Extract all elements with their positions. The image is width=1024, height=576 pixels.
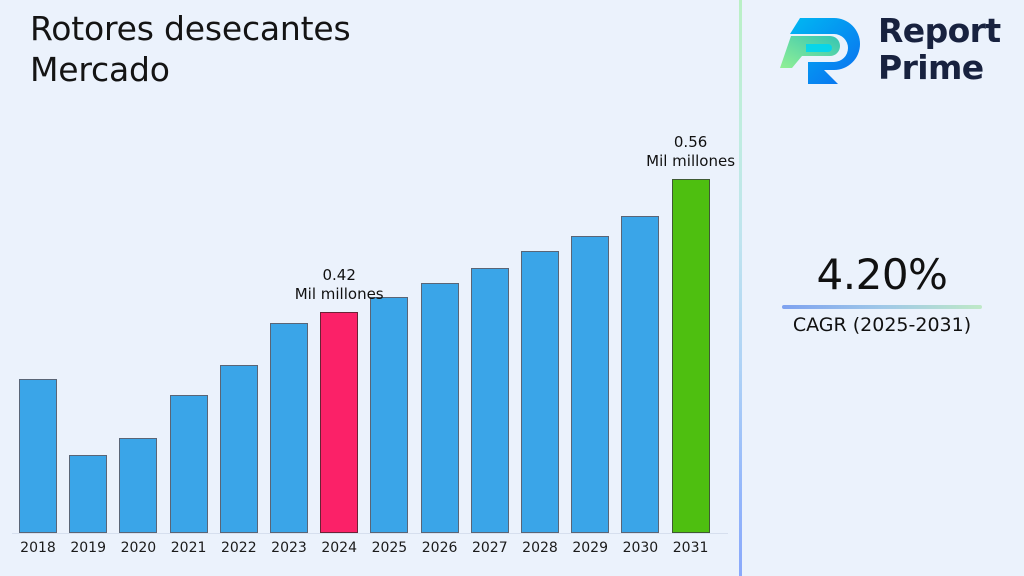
bar-2029 (571, 236, 609, 533)
brand-logo: Report Prime (778, 12, 1008, 90)
x-axis-label-2025: 2025 (362, 540, 416, 556)
x-axis-line (12, 533, 728, 534)
cagr-divider-rule (782, 305, 982, 309)
value-callout-unit: Mil millones (616, 152, 766, 171)
x-axis-label-2024: 2024 (312, 540, 366, 556)
brand-name-line-2: Prime (878, 49, 1001, 86)
value-callout-unit: Mil millones (264, 285, 414, 304)
cagr-value: 4.20% (740, 250, 1024, 300)
report-prime-mark-icon (778, 14, 870, 88)
value-callout-2024: 0.42Mil millones (264, 266, 414, 304)
x-axis-label-2018: 2018 (11, 540, 65, 556)
cagr-label: CAGR (2025-2031) (740, 313, 1024, 337)
bar-2031 (672, 179, 710, 533)
value-callout-2031: 0.56Mil millones (616, 133, 766, 171)
x-axis-label-2026: 2026 (413, 540, 467, 556)
bar-2027 (471, 268, 509, 533)
bar-chart: 2018201920202021202220232024202520262027… (0, 0, 739, 576)
bar-2018 (19, 379, 57, 533)
x-axis-label-2027: 2027 (463, 540, 517, 556)
bar-2021 (170, 395, 208, 533)
screenshot-root: Rotores desecantes Mercado 2018201920202… (0, 0, 1024, 576)
bar-2019 (69, 455, 107, 533)
value-callout-number: 0.56 (616, 133, 766, 152)
x-axis-label-2029: 2029 (563, 540, 617, 556)
brand-logo-text: Report Prime (878, 12, 1001, 86)
bar-2023 (270, 323, 308, 533)
bar-2026 (421, 283, 459, 533)
x-axis-label-2028: 2028 (513, 540, 567, 556)
brand-name-line-1: Report (878, 12, 1001, 49)
x-axis-label-2023: 2023 (262, 540, 316, 556)
bar-2020 (119, 438, 157, 533)
bar-2028 (521, 251, 559, 533)
cagr-block: 4.20% CAGR (2025-2031) (740, 250, 1024, 337)
x-axis-label-2021: 2021 (162, 540, 216, 556)
x-axis-label-2020: 2020 (111, 540, 165, 556)
x-axis-label-2022: 2022 (212, 540, 266, 556)
x-axis-label-2030: 2030 (613, 540, 667, 556)
bar-2022 (220, 365, 258, 533)
bar-2030 (621, 216, 659, 533)
bar-2025 (370, 297, 408, 533)
value-callout-number: 0.42 (264, 266, 414, 285)
x-axis-label-2019: 2019 (61, 540, 115, 556)
x-axis-label-2031: 2031 (664, 540, 718, 556)
bar-2024 (320, 312, 358, 533)
